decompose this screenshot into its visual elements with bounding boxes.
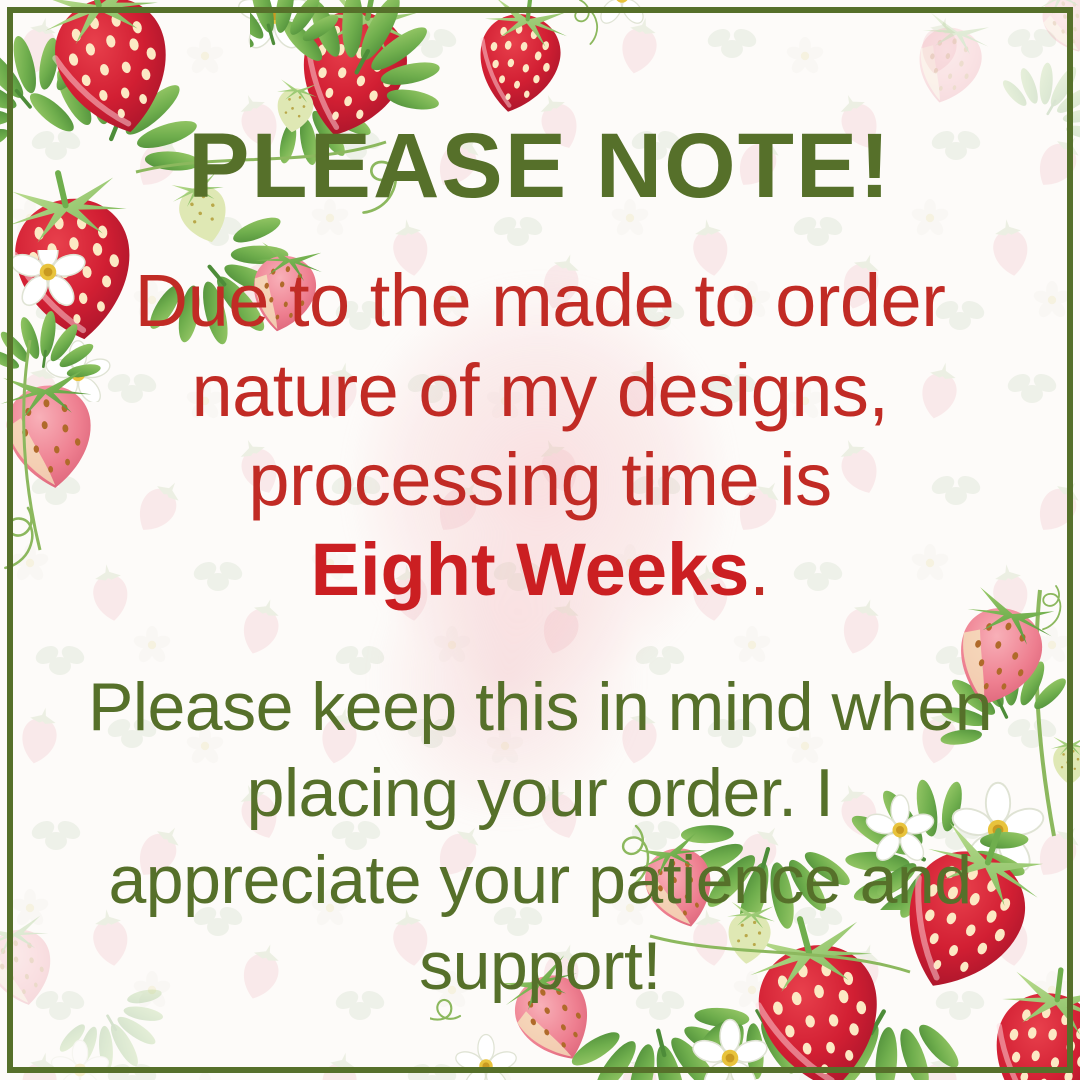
closing-line-1: Please keep this in mind when [60,664,1020,750]
notice-paragraph: Due to the made to order nature of my de… [60,256,1020,614]
notice-line-2: nature of my designs, [60,346,1020,436]
poster-canvas: PLEASE NOTE! Due to the made to order na… [0,0,1080,1080]
processing-time-line: Eight Weeks. [60,525,1020,615]
closing-line-2: placing your order. I [60,750,1020,836]
closing-line-4: support! [60,923,1020,1009]
notice-period: . [749,528,769,611]
closing-paragraph: Please keep this in mind when placing yo… [60,664,1020,1009]
closing-line-3: appreciate your patience and [60,837,1020,923]
notice-line-3: processing time is [60,435,1020,525]
notice-line-1: Due to the made to order [60,256,1020,346]
page-title: PLEASE NOTE! [188,120,892,212]
processing-time-value: Eight Weeks [311,528,750,611]
poster-content: PLEASE NOTE! Due to the made to order na… [0,0,1080,1080]
